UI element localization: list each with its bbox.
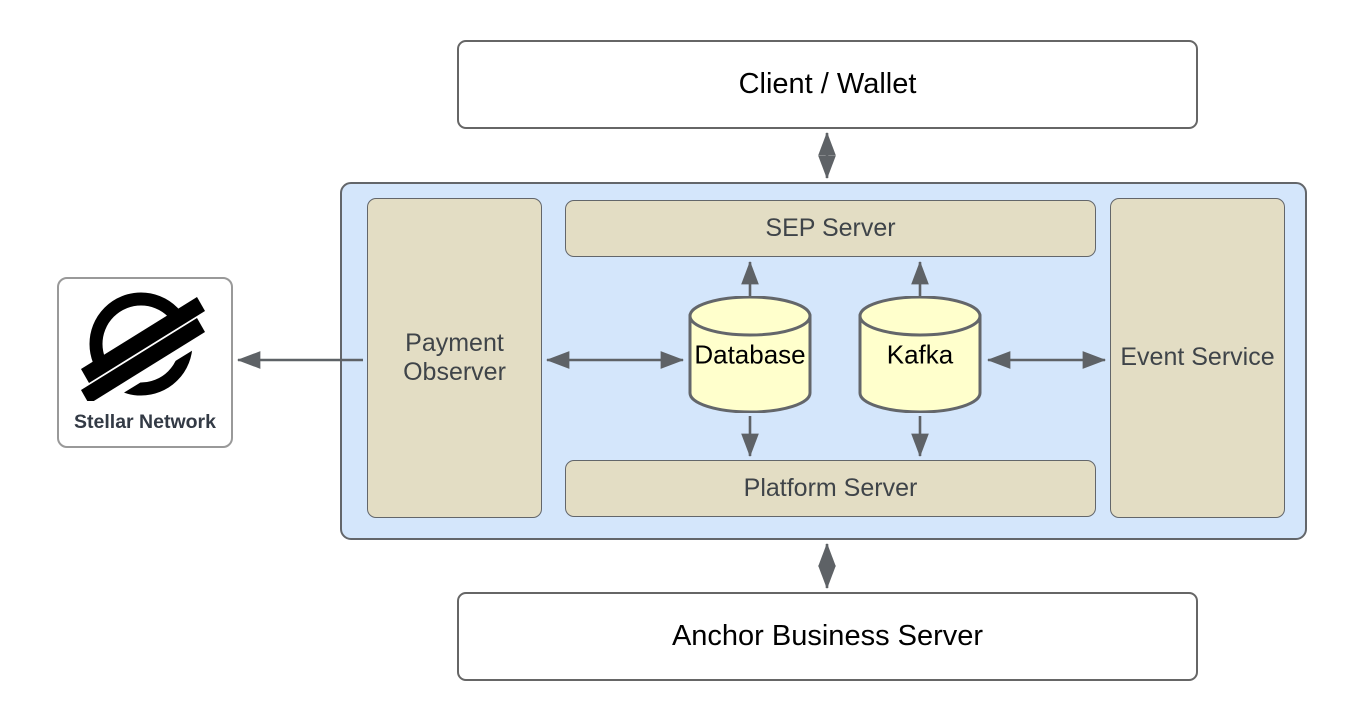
event-service-label: Event Service (1120, 343, 1274, 373)
payment-observer-node[interactable]: Payment Observer (367, 198, 542, 518)
sep-server-label: SEP Server (765, 214, 895, 244)
stellar-logo-icon (75, 289, 215, 406)
event-service-node[interactable]: Event Service (1110, 198, 1285, 518)
client-wallet-label: Client / Wallet (739, 67, 917, 101)
client-wallet-node[interactable]: Client / Wallet (457, 40, 1198, 129)
stellar-network-node[interactable]: Stellar Network (57, 277, 233, 448)
architecture-diagram: Client / Wallet Stellar Network (0, 0, 1345, 724)
platform-server-label: Platform Server (744, 474, 918, 504)
anchor-business-server-node[interactable]: Anchor Business Server (457, 592, 1198, 681)
platform-server-node[interactable]: Platform Server (565, 460, 1096, 517)
anchor-business-server-label: Anchor Business Server (672, 619, 983, 653)
kafka-node[interactable]: Kafka (857, 296, 983, 413)
stellar-network-label: Stellar Network (74, 411, 216, 434)
sep-server-node[interactable]: SEP Server (565, 200, 1096, 257)
database-node[interactable]: Database (687, 296, 813, 413)
payment-observer-label: Payment Observer (368, 329, 541, 388)
